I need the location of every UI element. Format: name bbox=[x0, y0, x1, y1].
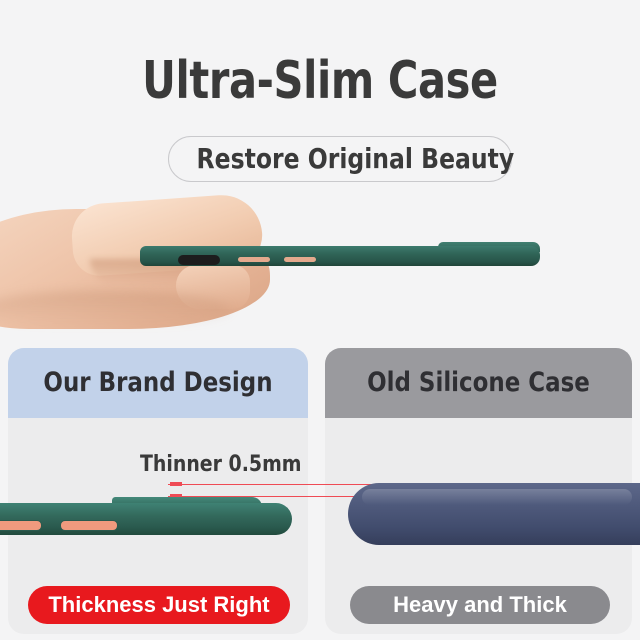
panel-header-left: Our Brand Design bbox=[8, 348, 308, 418]
thinner-callout-label: Thinner 0.5mm bbox=[140, 452, 302, 477]
button-cutout-icon bbox=[60, 520, 118, 531]
subtitle-text: Restore Original Beauty bbox=[197, 137, 486, 183]
hero-phone-icon bbox=[140, 242, 540, 266]
subtitle-pill: Restore Original Beauty bbox=[168, 136, 512, 182]
phone-body bbox=[348, 483, 640, 545]
panel-header-left-label: Our Brand Design bbox=[31, 348, 286, 418]
measure-tick-icon bbox=[170, 482, 182, 486]
phone-body bbox=[0, 503, 292, 535]
panel-header-right: Old Silicone Case bbox=[325, 348, 632, 418]
hero-image bbox=[0, 185, 640, 333]
banner-left-label: Thickness Just Right bbox=[28, 586, 290, 624]
phone-body bbox=[140, 246, 540, 266]
banner-heavy-and-thick: Heavy and Thick bbox=[350, 586, 610, 624]
thin-phone-icon bbox=[0, 497, 292, 535]
panel-header-right-label: Old Silicone Case bbox=[348, 348, 609, 418]
product-infographic: Ultra-Slim Case Restore Original Beauty … bbox=[0, 0, 640, 640]
charging-port-icon bbox=[178, 255, 220, 265]
thick-phone-icon bbox=[348, 483, 640, 545]
banner-thickness-just-right: Thickness Just Right bbox=[28, 586, 290, 624]
page-title: Ultra-Slim Case bbox=[64, 52, 576, 110]
button-cutout-icon bbox=[284, 257, 316, 262]
button-cutout-icon bbox=[238, 257, 270, 262]
button-cutout-icon bbox=[0, 520, 42, 531]
gloss-highlight bbox=[362, 489, 632, 505]
banner-right-label: Heavy and Thick bbox=[350, 586, 610, 624]
